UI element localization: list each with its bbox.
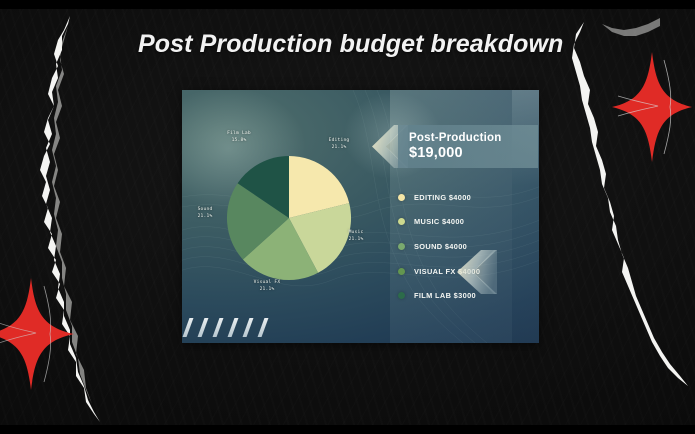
pie-label-music-name: Music (349, 230, 364, 235)
total-banner-amount: $19,000 (409, 145, 538, 162)
pie-label-music: Music 21.1% (327, 230, 385, 244)
pie-label-sound: Sound 21.1% (182, 207, 234, 221)
pie-label-visual-fx: Visual FX 21.1% (234, 280, 300, 294)
legend-label-music: MUSIC $4000 (414, 217, 464, 226)
pie-label-film-lab-name: Film Lab (227, 131, 251, 136)
legend-item-editing[interactable]: EDITING $4000 (398, 185, 533, 210)
legend-dot-film-lab (398, 292, 405, 299)
slide-canvas[interactable]: Film Lab 15.8% Editing 21.1% Music 21.1%… (182, 90, 539, 343)
pie-label-film-lab-value: 15.8% (232, 138, 247, 143)
legend-label-editing: EDITING $4000 (414, 193, 471, 202)
diagonal-stripes-decor (186, 317, 282, 337)
pie-label-music-value: 21.1% (349, 237, 364, 242)
pie-label-sound-name: Sound (198, 207, 213, 212)
pie-label-visual-fx-value: 21.1% (260, 287, 275, 292)
legend-item-music[interactable]: MUSIC $4000 (398, 210, 533, 235)
pie-label-editing-value: 21.1% (332, 145, 347, 150)
legend-dot-sound (398, 243, 405, 250)
pie-label-editing-name: Editing (329, 138, 350, 143)
pie-chart[interactable]: Film Lab 15.8% Editing 21.1% Music 21.1%… (182, 90, 396, 343)
page-title: Post Production budget breakdown (138, 30, 563, 59)
pie-label-visual-fx-name: Visual FX (254, 280, 281, 285)
bottom-edge-bar (0, 425, 695, 434)
chevron-left-decor-icon (457, 250, 497, 294)
pie-label-film-lab: Film Lab 15.8% (206, 131, 272, 145)
pie-label-sound-value: 21.1% (198, 214, 213, 219)
pie-label-editing: Editing 21.1% (308, 138, 370, 152)
legend-dot-visual-fx (398, 268, 405, 275)
total-banner-title: Post-Production (409, 131, 538, 145)
top-edge-bar (0, 0, 695, 9)
total-banner-body: Post-Production $19,000 (398, 125, 538, 168)
legend-dot-editing (398, 194, 405, 201)
legend-dot-music (398, 218, 405, 225)
